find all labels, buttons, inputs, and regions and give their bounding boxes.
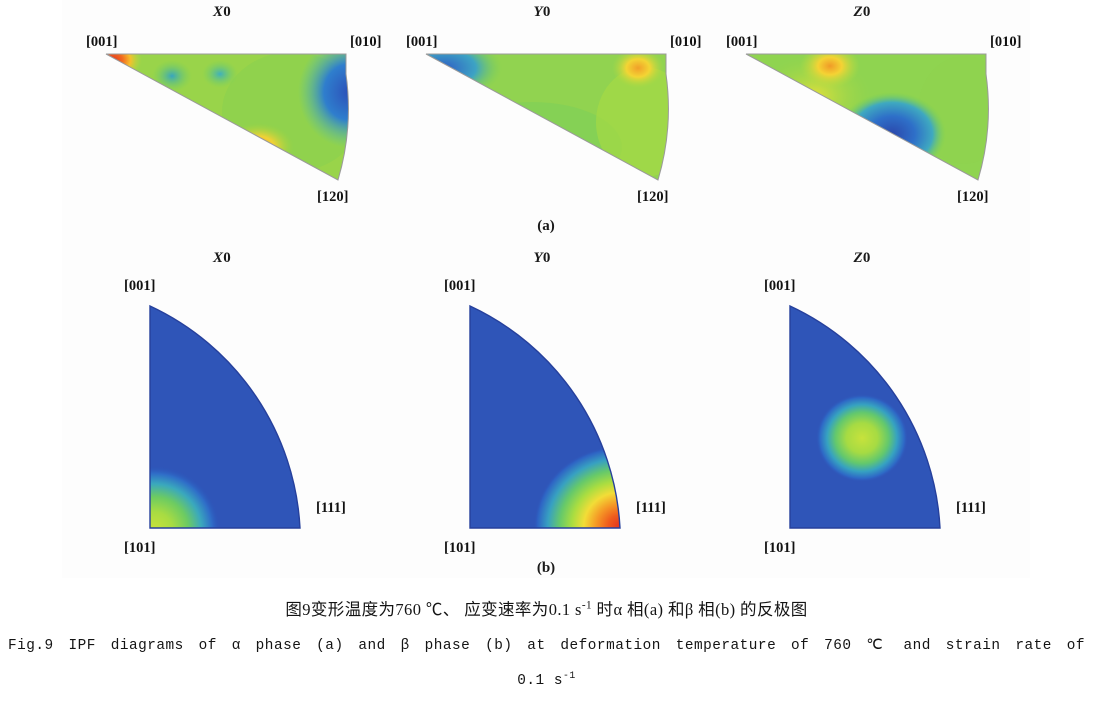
corner-label-101: [101] xyxy=(124,540,155,557)
panel-b-y0: Y0 [001] [101] [111] xyxy=(382,250,702,570)
panel-b-x0: X0 [001] [101] [111] xyxy=(62,250,382,570)
ipf-map-b-x0 xyxy=(62,298,382,538)
ipf-map-b-y0 xyxy=(382,298,702,538)
ipf-map-a-y0 xyxy=(382,52,702,192)
panel-axis-label-a-x0: X0 xyxy=(62,4,382,21)
corner-label-001: [001] xyxy=(444,278,475,295)
panel-b-z0: Z0 [001] [101] [111] xyxy=(702,250,1022,570)
caption-english-line-2: 0.1 s-1 xyxy=(0,661,1093,696)
corner-label-101: [101] xyxy=(764,540,795,557)
figure-plate: X0 [001] [010] [120] xyxy=(62,0,1030,578)
corner-label-010: [010] xyxy=(350,34,381,51)
caption-chinese-superscript-1: -1 xyxy=(582,600,592,612)
caption-chinese: 图9变形温度为760 ℃、 应变速率为0.1 s-1 时α 相(a) 和β 相(… xyxy=(0,596,1093,620)
panel-axis-label-b-x0: X0 xyxy=(62,250,382,267)
panel-axis-label-b-y0: Y0 xyxy=(382,250,702,267)
panel-a-x0: X0 [001] [010] [120] xyxy=(62,4,382,219)
caption-english-strain-rate-exponent: -1 xyxy=(563,670,576,681)
ipf-map-a-z0 xyxy=(702,52,1022,192)
row-label-b: (b) xyxy=(62,560,1030,577)
caption-english-line-1: Fig.9 IPF diagrams of α phase (a) and β … xyxy=(0,631,1093,661)
panel-axis-label-b-z0: Z0 xyxy=(702,250,1022,267)
corner-label-101: [101] xyxy=(444,540,475,557)
ipf-map-b-z0 xyxy=(702,298,1022,538)
row-label-a: (a) xyxy=(62,218,1030,235)
caption-english-strain-rate-value: 0.1 s xyxy=(517,673,563,689)
corner-label-001: [001] xyxy=(124,278,155,295)
figure-caption-block: 图9变形温度为760 ℃、 应变速率为0.1 s-1 时α 相(a) 和β 相(… xyxy=(0,596,1093,696)
caption-chinese-text-2: 时α 相(a) 和β 相(b) 的反极图 xyxy=(592,600,808,619)
ipf-map-a-x0 xyxy=(62,52,382,192)
caption-chinese-figure-no: 图9 xyxy=(285,600,311,619)
corner-label-010: [010] xyxy=(670,34,701,51)
corner-label-010: [010] xyxy=(990,34,1021,51)
panel-a-z0: Z0 [001] [010] [120] xyxy=(702,4,1022,219)
corner-label-001: [001] xyxy=(764,278,795,295)
corner-label-001: [001] xyxy=(86,34,117,51)
corner-label-001: [001] xyxy=(406,34,437,51)
caption-chinese-text-1: 变形温度为760 ℃、 应变速率为0.1 s xyxy=(311,600,582,619)
panel-axis-label-a-y0: Y0 xyxy=(382,4,702,21)
panel-axis-label-a-z0: Z0 xyxy=(702,4,1022,21)
panel-a-y0: Y0 [001] [010] [120] xyxy=(382,4,702,219)
corner-label-001: [001] xyxy=(726,34,757,51)
